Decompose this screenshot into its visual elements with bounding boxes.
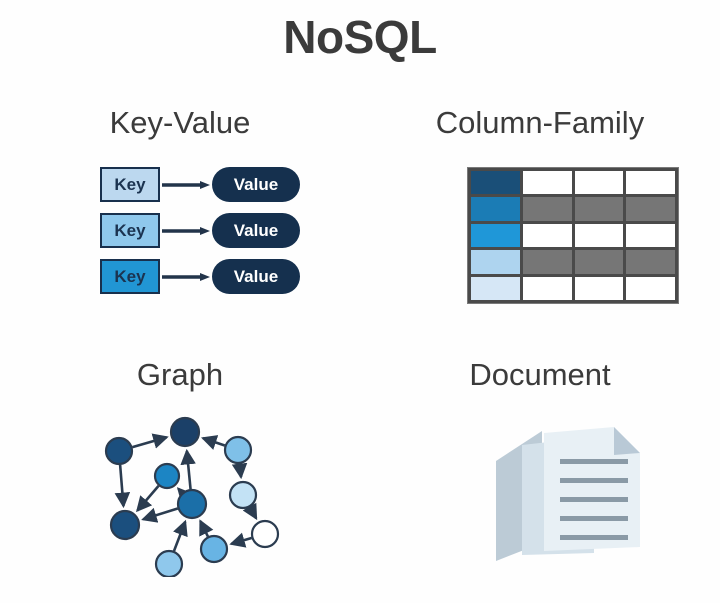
- column-family-cell: [523, 224, 572, 247]
- document-text-line: [560, 459, 628, 464]
- graph-edge: [174, 522, 185, 551]
- graph-edge: [137, 486, 158, 511]
- document-text-line: [560, 535, 628, 540]
- graph-node: [106, 438, 132, 464]
- column-family-cell: [575, 171, 624, 194]
- key-box: Key: [100, 259, 160, 294]
- key-box: Key: [100, 167, 160, 202]
- graph-node: [225, 437, 251, 463]
- key-value-pair-row: Key Value: [100, 213, 300, 248]
- graph-edge: [120, 465, 123, 506]
- column-family-cell: [626, 197, 675, 220]
- graph-node: [156, 551, 182, 577]
- column-family-key-cell: [471, 277, 520, 300]
- graph-node: [252, 521, 278, 547]
- value-pill: Value: [212, 213, 300, 248]
- page-title: NoSQL: [0, 14, 720, 60]
- key-value-pair-row: Key Value: [100, 167, 300, 202]
- column-family-grid: [467, 167, 679, 304]
- column-family-cell: [575, 277, 624, 300]
- page-fold-corner-icon: [614, 427, 640, 455]
- graph-edge: [250, 507, 256, 518]
- section-label-document: Document: [360, 359, 720, 390]
- column-family-cell: [523, 250, 572, 273]
- document-icon: [490, 415, 655, 570]
- column-family-cell: [575, 224, 624, 247]
- section-label-key-value: Key-Value: [0, 107, 360, 138]
- graph-node: [230, 482, 256, 508]
- graph-node: [178, 490, 206, 518]
- graph-edge: [200, 521, 208, 536]
- graph-edge: [187, 451, 191, 489]
- graph-node: [155, 464, 179, 488]
- graph-edge: [231, 538, 251, 544]
- graph-diagram: [95, 412, 310, 577]
- column-family-cell: [575, 197, 624, 220]
- column-family-cell: [626, 171, 675, 194]
- key-value-diagram: Key Value Key Value Key Value: [100, 167, 300, 302]
- graph-node: [171, 418, 199, 446]
- key-value-pair-row: Key Value: [100, 259, 300, 294]
- document-page-front: [544, 427, 640, 551]
- graph-edge: [132, 437, 166, 447]
- key-box: Key: [100, 213, 160, 248]
- arrow-right-icon: [162, 273, 210, 281]
- arrow-right-icon: [162, 227, 210, 235]
- column-family-cell: [523, 171, 572, 194]
- column-family-key-cell: [471, 171, 520, 194]
- diagram-canvas: NoSQL Key-Value Column-Family Graph Docu…: [0, 0, 720, 603]
- column-family-cell: [626, 224, 675, 247]
- section-label-column-family: Column-Family: [360, 107, 720, 138]
- graph-edge: [203, 438, 225, 445]
- column-family-key-cell: [471, 197, 520, 220]
- column-family-key-cell: [471, 250, 520, 273]
- column-family-cell: [626, 277, 675, 300]
- graph-edge: [240, 464, 241, 477]
- section-label-graph: Graph: [0, 359, 360, 390]
- graph-node-group: [106, 418, 278, 577]
- value-pill: Value: [212, 167, 300, 202]
- column-family-cell: [575, 250, 624, 273]
- document-text-line: [560, 516, 628, 521]
- graph-node: [111, 511, 139, 539]
- column-family-cell: [523, 277, 572, 300]
- arrow-right-icon: [162, 181, 210, 189]
- column-family-cell: [523, 197, 572, 220]
- value-pill: Value: [212, 259, 300, 294]
- graph-node: [201, 536, 227, 562]
- column-family-key-cell: [471, 224, 520, 247]
- document-text-line: [560, 478, 628, 483]
- graph-edge: [143, 508, 178, 519]
- document-text-line: [560, 497, 628, 502]
- column-family-cell: [626, 250, 675, 273]
- graph-edge: [178, 489, 182, 493]
